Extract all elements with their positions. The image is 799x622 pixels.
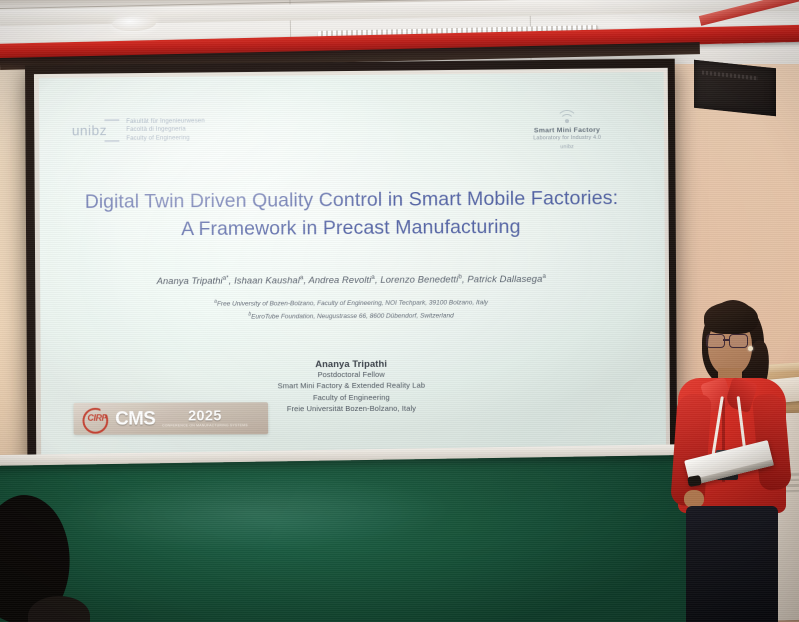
author-name-4: Patrick Dallasega [467, 273, 542, 284]
smf-org: unibz [503, 143, 632, 150]
author-name-2: Andrea Revolti [308, 274, 371, 285]
presentation-slide: unibz Fakultät für Ingenieurwesen Facolt… [39, 72, 666, 455]
wifi-signal-icon [557, 109, 577, 124]
speaker-grill [702, 71, 758, 81]
cms-year-subtext: CONFERENCE ON MANUFACTURING SYSTEMS [162, 424, 248, 428]
unibz-line-it: Facoltà di Ingegneria [126, 127, 205, 134]
unibz-bar-bottom [105, 140, 120, 142]
slide-title-line2: A Framework in Precast Manufacturing [65, 213, 638, 245]
unibz-wordmark: unibz [72, 123, 107, 137]
wall-speaker-icon [694, 60, 776, 117]
author-name-3: Lorenzo Benedetti [380, 273, 458, 284]
cms-wordmark: CMS [115, 409, 155, 428]
projection-screen-frame: unibz Fakultät für Ingenieurwesen Facolt… [25, 59, 677, 467]
affiliation-text-b: EuroTube Foundation, Neugustrasse 66, 86… [251, 312, 454, 320]
projection-screen-bezel: unibz Fakultät für Ingenieurwesen Facolt… [34, 68, 670, 460]
author-mark-4: a [542, 273, 546, 280]
affiliation-row: bEuroTube Foundation, Neugustrasse 66, 8… [40, 308, 665, 324]
unibz-faculty-lines: Fakultät für Ingenieurwesen Facoltà di I… [126, 118, 205, 141]
chalkboard-sheen [56, 473, 450, 553]
author-mark-1: a [300, 274, 304, 281]
cms-year-block: 2025 CONFERENCE ON MANUFACTURING SYSTEMS [162, 409, 248, 428]
cms-year: 2025 [188, 409, 222, 424]
presenter-person [660, 298, 790, 622]
wifi-dot [565, 119, 569, 123]
unibz-line-en: Faculty of Engineering [126, 135, 205, 142]
author-line: Ananya Tripathia*, Ishaan Kaushala, Andr… [40, 272, 665, 287]
smart-mini-factory-logo: Smart Mini Factory Laboratory for Indust… [502, 108, 631, 150]
author-mark-0: a* [223, 275, 229, 282]
unibz-logo: unibz Fakultät für Ingenieurwesen Facolt… [72, 116, 205, 144]
affiliation-block: aFree University of Bozen-Bolzano, Facul… [40, 295, 665, 324]
hair-front [704, 302, 758, 334]
unibz-logo-mark: unibz [72, 117, 118, 144]
glasses-lens-right [729, 334, 748, 348]
author-name-0: Ananya Tripathi [157, 275, 223, 286]
slide-title: Digital Twin Driven Quality Control in S… [40, 185, 665, 245]
author-name-1: Ishaan Kaushal [234, 274, 300, 285]
author-mark-3: b [458, 273, 462, 280]
unibz-line-de: Fakultät für Ingenieurwesen [126, 118, 205, 125]
presentation-photo-scene: unibz Fakultät für Ingenieurwesen Facolt… [0, 0, 799, 622]
projection-screen-surface: unibz Fakultät für Ingenieurwesen Facolt… [39, 72, 666, 455]
earring [748, 346, 753, 351]
affiliation-text-a: Free University of Bozen-Bolzano, Facult… [217, 299, 488, 307]
smf-subtitle: Laboratory for Industry 4.0 [503, 135, 632, 143]
conference-logo-banner: CIRP CMS 2025 CONFERENCE ON MANUFACTURIN… [73, 402, 268, 434]
ceiling-light-icon [112, 15, 156, 32]
slide-title-line1: Digital Twin Driven Quality Control in S… [85, 187, 619, 213]
green-chalkboard [0, 455, 702, 622]
glasses-lens-left [706, 334, 725, 348]
trousers [686, 506, 778, 622]
cirp-wordmark: CIRP [87, 413, 107, 423]
cirp-logo-icon: CIRP [81, 407, 108, 431]
unibz-bar-top [104, 119, 119, 121]
author-mark-2: a [371, 274, 375, 281]
glasses-icon [706, 334, 750, 346]
